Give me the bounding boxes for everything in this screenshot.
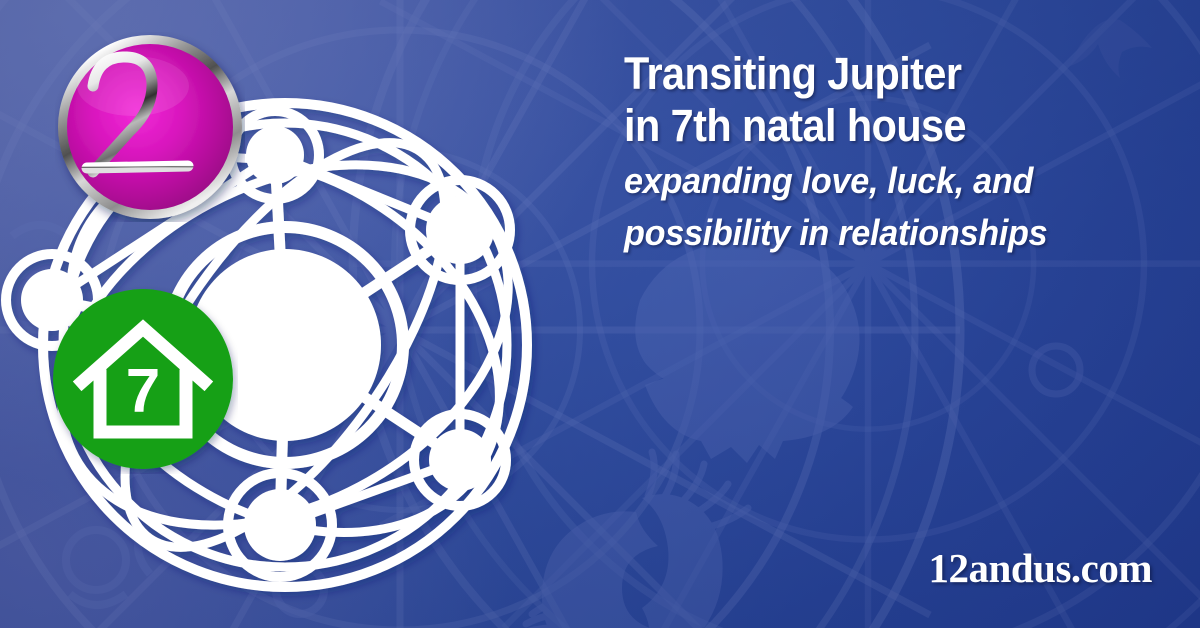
banner-text-block: Transiting Jupiter in 7th natal house ex… <box>624 48 1184 256</box>
natal-house-badge: 7 <box>48 284 238 474</box>
headline-line-2: in 7th natal house <box>624 100 1139 152</box>
headline-line-1: Transiting Jupiter <box>624 48 1139 100</box>
subhead-line-2: possibility in relationships <box>624 210 1156 256</box>
site-url[interactable]: 12andus.com <box>929 544 1152 592</box>
subhead-line-1: expanding love, luck, and <box>624 158 1156 204</box>
banner-canvas: 7 Transiting Jupiter in 7th natal house … <box>0 0 1200 628</box>
jupiter-planet-badge <box>55 32 245 222</box>
house-number: 7 <box>126 357 160 426</box>
